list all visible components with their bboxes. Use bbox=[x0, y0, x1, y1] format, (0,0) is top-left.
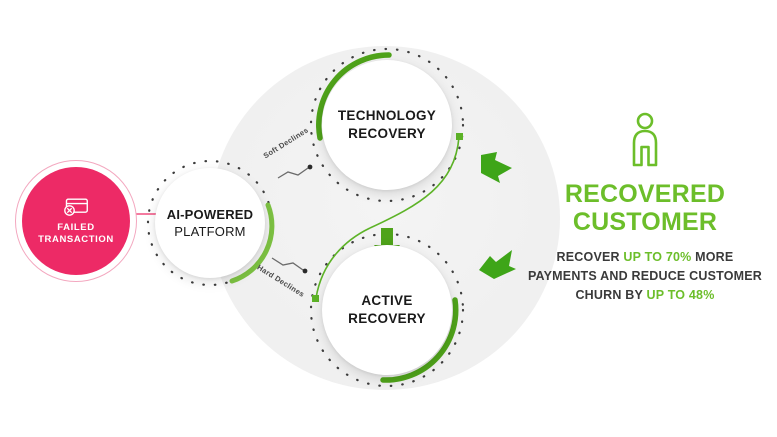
credit-card-error-icon bbox=[63, 197, 89, 217]
node-failed-transaction[interactable]: FAILED TRANSACTION bbox=[22, 167, 130, 275]
platform-label-line1: AI-POWERED bbox=[167, 207, 254, 222]
failed-label-line1: FAILED bbox=[38, 222, 114, 234]
node-ai-powered-platform[interactable]: AI-POWERED PLATFORM bbox=[155, 168, 265, 278]
outcome-headline-line1: RECOVERED bbox=[520, 180, 770, 208]
technology-label-line2: RECOVERY bbox=[348, 125, 426, 143]
active-label-line1: ACTIVE bbox=[361, 292, 412, 310]
green-node-active bbox=[312, 295, 319, 302]
body-highlight-70: UP TO 70% bbox=[623, 250, 691, 264]
outcome-body-line2: PAYMENTS AND REDUCE CUSTOMER bbox=[520, 267, 770, 286]
person-icon bbox=[628, 112, 662, 170]
technology-label-line1: TECHNOLOGY bbox=[338, 107, 436, 125]
node-active-recovery[interactable]: ACTIVE RECOVERY bbox=[322, 245, 452, 375]
body-plain-b: MORE bbox=[691, 250, 733, 264]
outcome-headline: RECOVERED CUSTOMER bbox=[520, 180, 770, 236]
body-plain-c: CHURN BY bbox=[575, 288, 646, 302]
outcome-block: RECOVERED CUSTOMER RECOVER UP TO 70% MOR… bbox=[520, 112, 770, 305]
failed-label-line2: TRANSACTION bbox=[38, 234, 114, 246]
outcome-body-line1: RECOVER UP TO 70% MORE bbox=[520, 248, 770, 267]
body-highlight-48: UP TO 48% bbox=[646, 288, 714, 302]
outcome-headline-line2: CUSTOMER bbox=[520, 208, 770, 236]
platform-label-line2: PLATFORM bbox=[174, 224, 245, 239]
green-node-technology bbox=[456, 133, 463, 140]
infographic-canvas: FAILED TRANSACTION AI-POWERED PLATFORM T… bbox=[0, 0, 777, 437]
outcome-body-line3: CHURN BY UP TO 48% bbox=[520, 286, 770, 305]
outcome-body: RECOVER UP TO 70% MORE PAYMENTS AND REDU… bbox=[520, 248, 770, 305]
node-technology-recovery[interactable]: TECHNOLOGY RECOVERY bbox=[322, 60, 452, 190]
active-label-line2: RECOVERY bbox=[348, 310, 426, 328]
body-plain-a: RECOVER bbox=[557, 250, 624, 264]
